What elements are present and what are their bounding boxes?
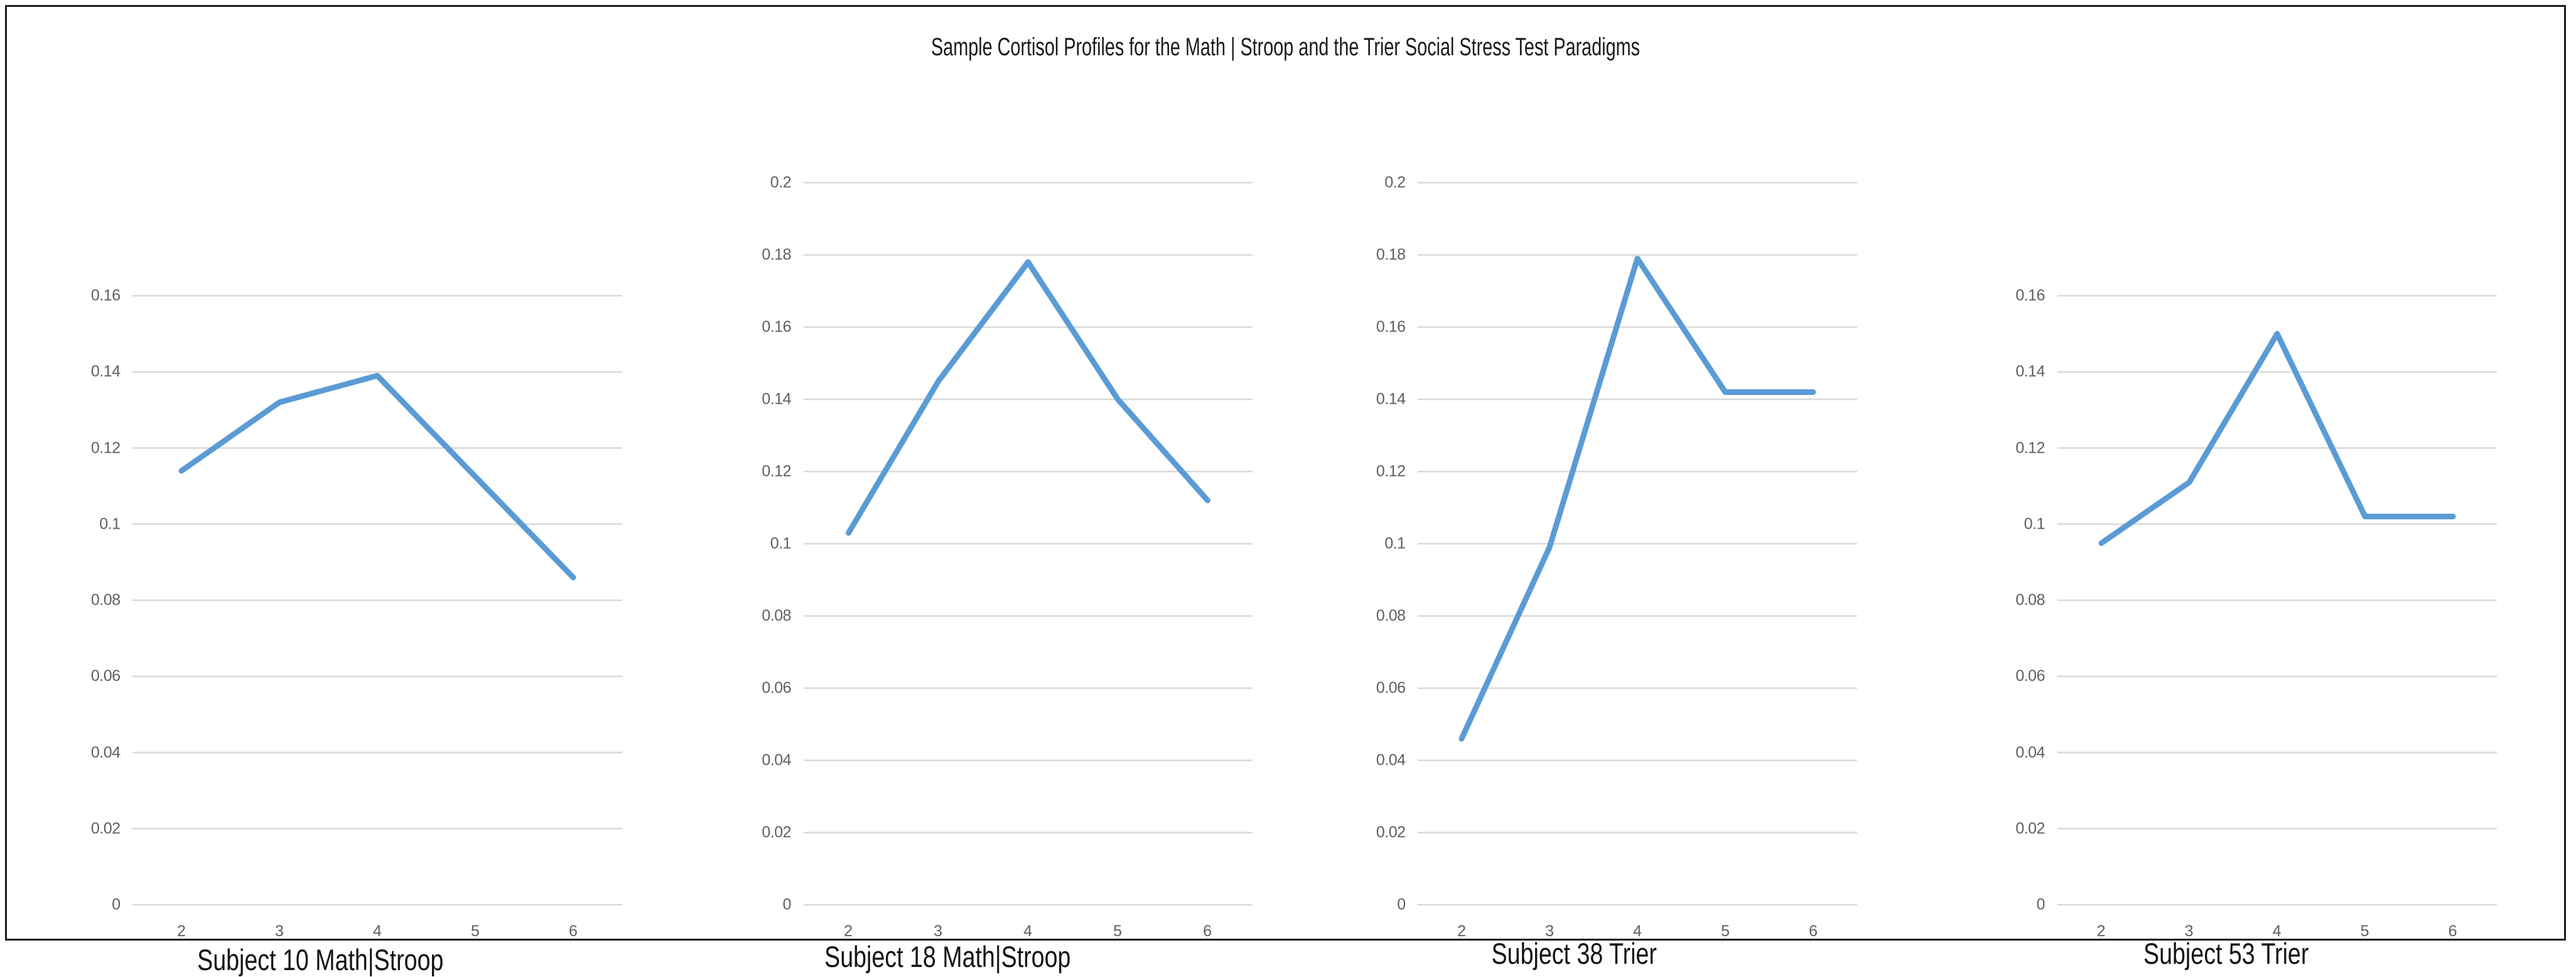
gridlines [1418, 183, 1857, 905]
chart-panel-1: 00.020.040.060.080.10.120.140.1623456Sub… [7, 70, 634, 936]
data-line-series[interactable] [2101, 334, 2453, 543]
plot-area-4 [1888, 70, 2565, 936]
gridlines [804, 183, 1253, 905]
gridlines [2057, 296, 2497, 905]
chart-caption-3: Subject 38 Trier [1323, 936, 1825, 971]
chart-caption-2: Subject 18 Math|Stroop [696, 939, 1198, 974]
figure-title: Sample Cortisol Profiles for the Math | … [365, 33, 2206, 62]
plot-area-1 [7, 70, 635, 936]
data-line-series[interactable] [848, 262, 1207, 533]
gridlines [132, 296, 622, 905]
chart-panel-2: 00.020.040.060.080.10.120.140.160.180.22… [634, 70, 1261, 936]
chart-caption-1: Subject 10 Math|Stroop [70, 942, 571, 977]
data-line-series[interactable] [181, 375, 573, 577]
figure-border: Sample Cortisol Profiles for the Math | … [5, 5, 2566, 941]
chart-caption-4: Subject 53 Trier [1955, 936, 2496, 971]
chart-panel-3: 00.020.040.060.080.10.120.140.160.180.22… [1261, 70, 1888, 936]
chart-panel-container: 00.020.040.060.080.10.120.140.1623456Sub… [7, 70, 2564, 936]
plot-area-3 [1261, 70, 1889, 936]
plot-area-2 [634, 70, 1262, 936]
data-line-series[interactable] [1462, 259, 1813, 739]
chart-panel-4: 00.020.040.060.080.10.120.140.1623456Sub… [1888, 70, 2564, 936]
